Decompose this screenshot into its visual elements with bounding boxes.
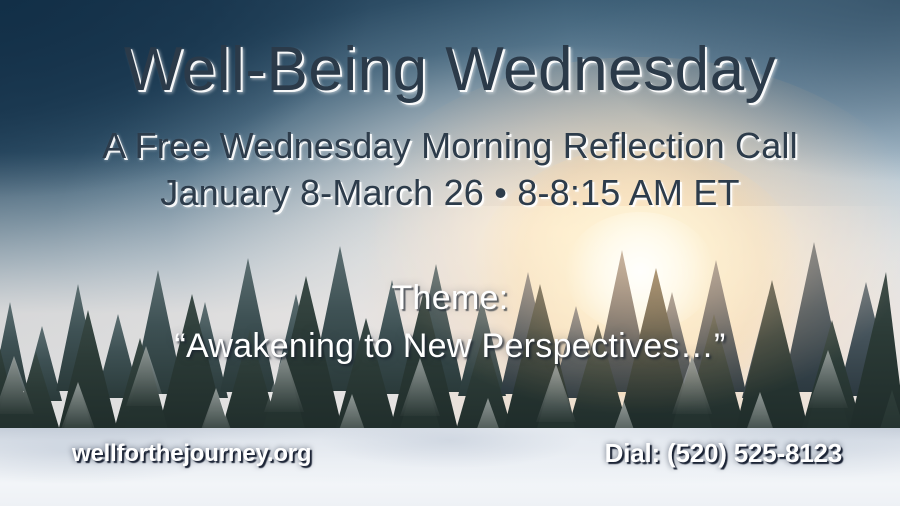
theme-label: Theme: xyxy=(0,279,900,318)
theme-quote: “Awakening to New Perspectives…” xyxy=(0,327,900,366)
website-link[interactable]: wellforthejourney.org xyxy=(72,440,311,468)
subtitle-schedule: January 8-March 26 • 8-8:15 AM ET xyxy=(0,172,900,214)
well-being-wednesday-poster: Well-Being Wednesday A Free Wednesday Mo… xyxy=(0,0,900,506)
subtitle-description: A Free Wednesday Morning Reflection Call xyxy=(0,125,900,167)
page-title: Well-Being Wednesday xyxy=(0,34,900,105)
poster-text-layer: Well-Being Wednesday A Free Wednesday Mo… xyxy=(0,0,900,506)
dial-in-number[interactable]: Dial: (520) 525-8123 xyxy=(605,438,842,469)
